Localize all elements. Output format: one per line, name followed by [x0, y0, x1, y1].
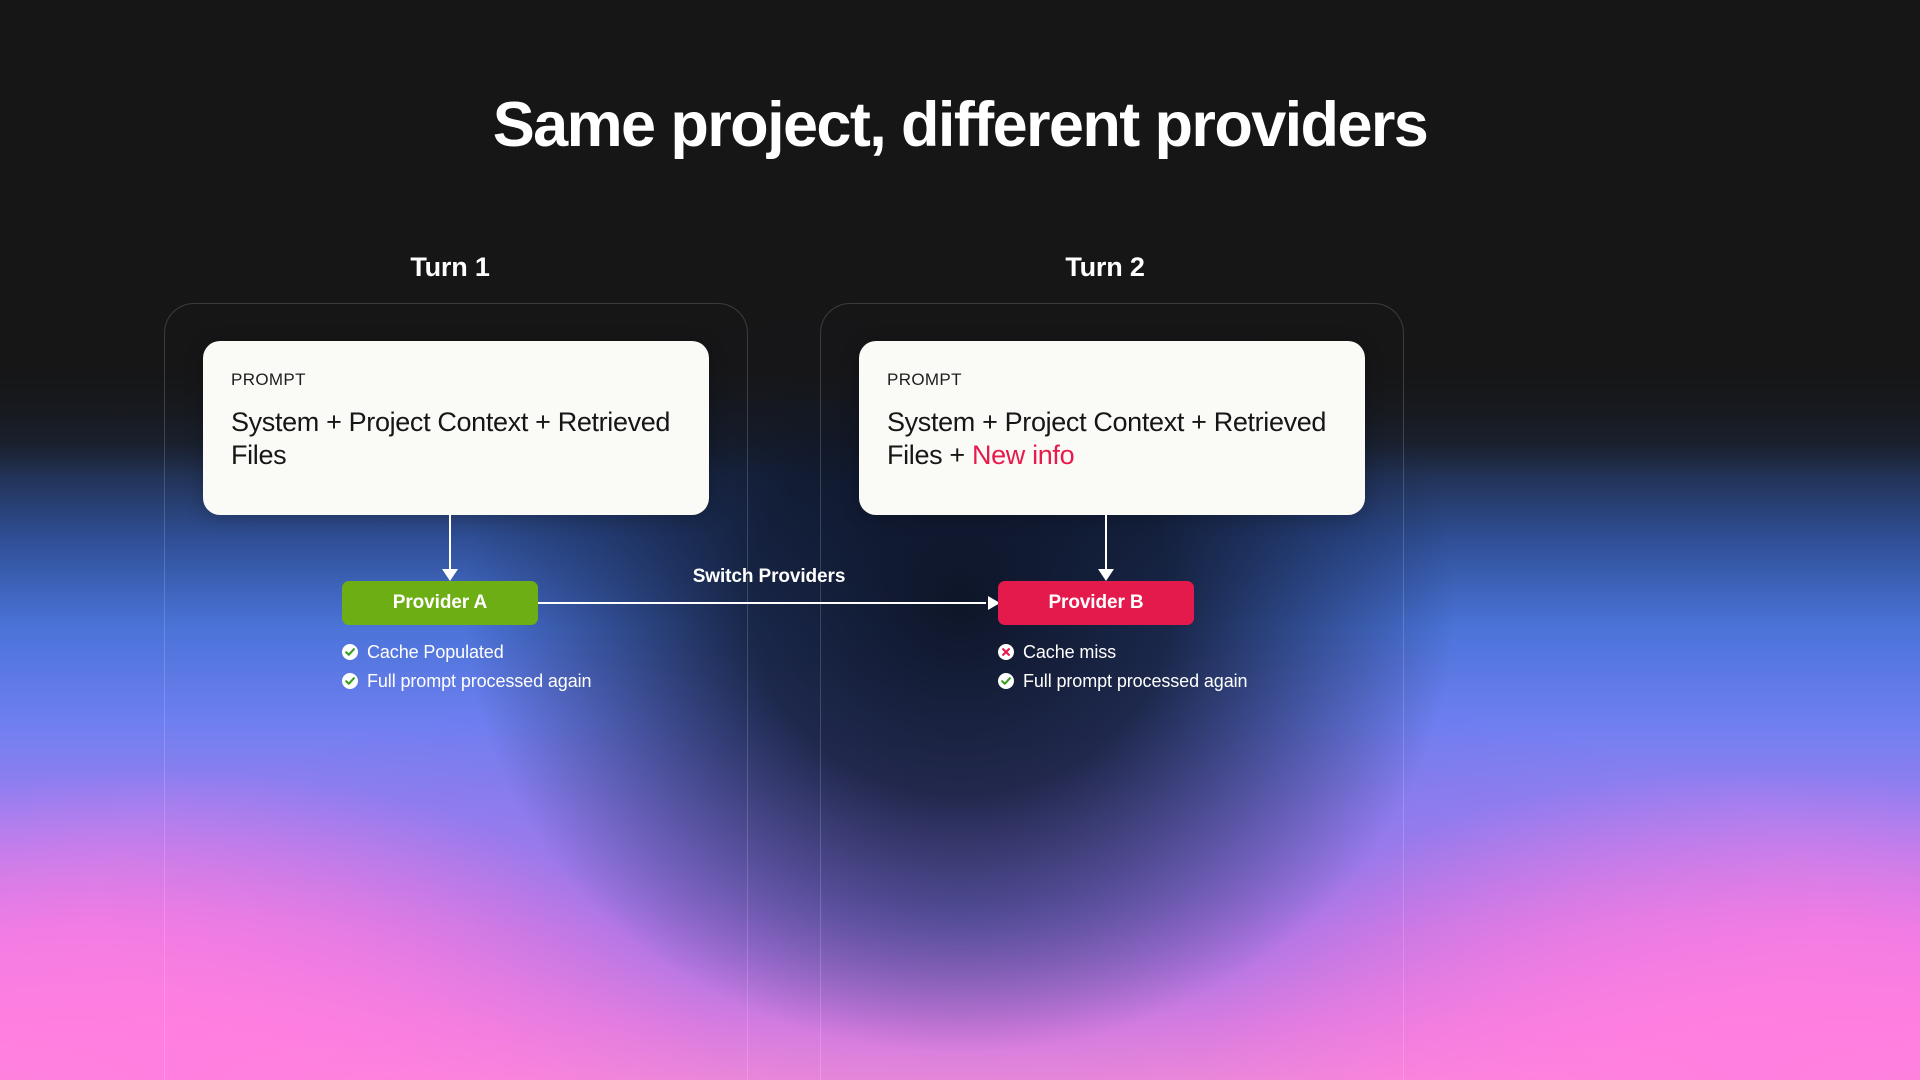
- switch-providers-arrow-icon: [538, 595, 1000, 613]
- diagram-canvas: Same project, different providers Turn 1…: [0, 0, 1920, 1080]
- provider-b-label: Provider B: [1048, 592, 1143, 614]
- status-label: Full prompt processed again: [367, 670, 591, 693]
- arrow-head: [1098, 569, 1114, 581]
- turn-2-prompt-card: PROMPT System + Project Context + Retrie…: [859, 341, 1365, 515]
- turn-2-prompt-body: System + Project Context + Retrieved Fil…: [887, 406, 1339, 472]
- status-item: Full prompt processed again: [998, 670, 1247, 693]
- turn-2-status-list: Cache miss Full prompt processed again: [998, 641, 1247, 692]
- turn-2-prompt-text: System + Project Context + Retrieved Fil…: [887, 407, 1326, 470]
- turn-2-prompt-highlight: New info: [972, 440, 1074, 470]
- check-circle-icon: [342, 673, 358, 689]
- provider-b-button[interactable]: Provider B: [998, 581, 1194, 625]
- turn-2-label: Turn 2: [955, 252, 1255, 283]
- check-circle-icon: [342, 644, 358, 660]
- arrow-shaft: [449, 515, 451, 569]
- switch-providers-label: Switch Providers: [538, 566, 1000, 588]
- turn-1-prompt-body: System + Project Context + Retrieved Fil…: [231, 406, 683, 472]
- turn-1-down-arrow-icon: [440, 515, 460, 581]
- provider-a-button[interactable]: Provider A: [342, 581, 538, 625]
- provider-a-label: Provider A: [393, 592, 487, 614]
- status-label: Cache miss: [1023, 641, 1116, 664]
- check-circle-icon: [998, 673, 1014, 689]
- turn-1-prompt-kicker: PROMPT: [231, 371, 683, 388]
- x-circle-icon: [998, 644, 1014, 660]
- status-label: Full prompt processed again: [1023, 670, 1247, 693]
- status-item: Cache miss: [998, 641, 1247, 664]
- status-item: Cache Populated: [342, 641, 591, 664]
- arrow-shaft: [538, 602, 986, 604]
- arrow-head: [442, 569, 458, 581]
- turn-1-status-list: Cache Populated Full prompt processed ag…: [342, 641, 591, 692]
- arrow-shaft: [1105, 515, 1107, 569]
- turn-1-prompt-text: System + Project Context + Retrieved Fil…: [231, 407, 670, 470]
- status-item: Full prompt processed again: [342, 670, 591, 693]
- turn-2-prompt-kicker: PROMPT: [887, 371, 1339, 388]
- turn-1-label: Turn 1: [300, 252, 600, 283]
- page-title: Same project, different providers: [0, 92, 1920, 158]
- turn-1-prompt-card: PROMPT System + Project Context + Retrie…: [203, 341, 709, 515]
- status-label: Cache Populated: [367, 641, 504, 664]
- turn-2-down-arrow-icon: [1096, 515, 1116, 581]
